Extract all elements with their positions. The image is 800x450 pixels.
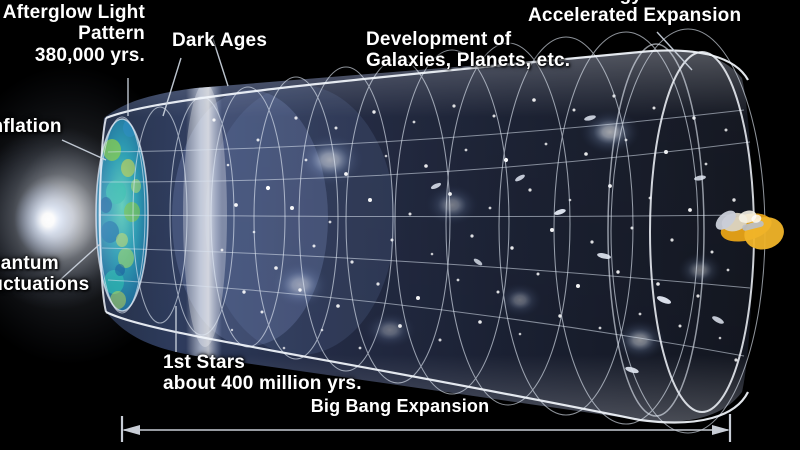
cone-artwork (0, 0, 800, 450)
universe-timeline-figure: Afterglow Light Pattern 380,000 yrs. Dar… (0, 0, 800, 450)
big-bang-core (14, 182, 82, 258)
